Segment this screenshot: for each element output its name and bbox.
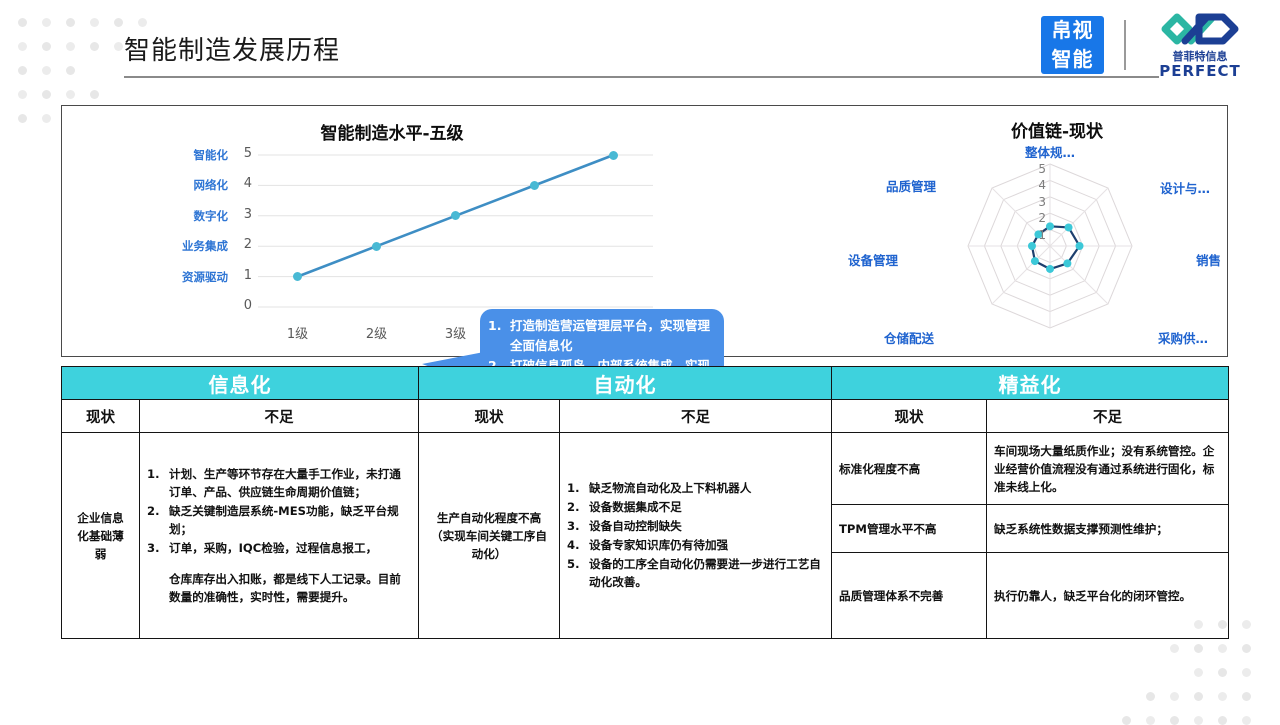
radial-axis-tick: 4 (1030, 178, 1046, 192)
radar-chart-svg (898, 136, 1218, 351)
brand-logo-perfect: 普菲特信息 PERFECT (1145, 12, 1255, 78)
radar-axis-label: 仓储配送 (884, 328, 934, 347)
brand-logo-line1: 帛视 (1041, 16, 1104, 45)
lean-status-cell: 标准化程度不高 (832, 433, 987, 505)
stage-label: 数字化 (172, 208, 228, 224)
decorative-dot (1218, 644, 1227, 653)
title-divider (124, 76, 1159, 78)
info-gap-list: 1. 计划、生产等环节存在大量手工作业，未打通订单、产品、供应链生命周期价值链；… (147, 465, 411, 606)
assessment-table: 信息化 自动化 精益化 现状 不足 现状 不足 现状 不足 企业信息化基础薄弱 … (61, 366, 1229, 639)
decorative-dot (1194, 644, 1203, 653)
callout-item: 1. 打造制造营运管理层平台，实现管理全面信息化 (488, 316, 716, 356)
lean-status-cell: TPM管理水平不高 (832, 505, 987, 553)
charts-card: 智能制造水平-五级 价值链-现状 012345智能化网络化数字化业务集成资源驱动… (61, 105, 1228, 357)
list-item: 3. 订单，采购，IQC检验，过程信息报工， (147, 539, 411, 557)
list-item: 5. 设备的工序全自动化仍需要进一步进行工艺自动化改善。 (567, 555, 824, 591)
list-item-text: 设备的工序全自动化仍需要进一步进行工艺自动化改善。 (589, 555, 824, 591)
radar-data-point (1065, 223, 1073, 231)
auto-status-cell: 生产自动化程度不高（实现车间关键工序自动化） (419, 433, 560, 639)
radial-axis-tick: 5 (1030, 162, 1046, 176)
decorative-dot (1218, 668, 1227, 677)
list-item-text: 设备自动控制缺失 (589, 517, 824, 535)
list-item-number: 3. (567, 517, 589, 535)
brand-name-en: PERFECT (1145, 63, 1255, 79)
sub-header-gap: 不足 (987, 400, 1229, 433)
sub-header-gap: 不足 (560, 400, 832, 433)
decorative-dot (1194, 716, 1203, 725)
page-title: 智能制造发展历程 (124, 30, 340, 67)
list-item-text: 订单，采购，IQC检验，过程信息报工， (169, 539, 411, 557)
decorative-dot (1146, 716, 1155, 725)
decorative-dot (1194, 668, 1203, 677)
radar-data-point (1028, 242, 1036, 250)
decorative-dot (1242, 692, 1251, 701)
y-axis-tick: 4 (232, 176, 252, 191)
stage-label: 网络化 (172, 177, 228, 193)
sub-header-gap: 不足 (140, 400, 419, 433)
list-item: 4. 设备专家知识库仍有待加强 (567, 536, 824, 554)
lean-status-cell: 品质管理体系不完善 (832, 553, 987, 639)
spacer (147, 558, 411, 570)
radial-axis-tick: 3 (1030, 195, 1046, 209)
decorative-dot (18, 114, 27, 123)
decorative-dot (1122, 716, 1131, 725)
list-item-number: 1. (567, 479, 589, 497)
callout-item-text: 打造制造营运管理层平台，实现管理全面信息化 (510, 316, 716, 356)
lean-gap-cell: 缺乏系统性数据支撑预测性维护； (987, 505, 1229, 553)
brand-logo-line2: 智能 (1041, 45, 1104, 74)
decorative-dot (1242, 668, 1251, 677)
info-status-cell: 企业信息化基础薄弱 (62, 433, 140, 639)
sub-header-status: 现状 (62, 400, 140, 433)
callout-item-number: 1. (488, 316, 510, 356)
decorative-dot (1242, 644, 1251, 653)
stage-label: 业务集成 (172, 238, 228, 254)
radar-data-point (1046, 265, 1054, 273)
y-axis-tick: 1 (232, 268, 252, 283)
auto-gap-cell: 1. 缺乏物流自动化及上下料机器人 2. 设备数据集成不足 3. 设备自动控制缺… (560, 433, 832, 639)
list-item: 1. 计划、生产等环节存在大量手工作业，未打通订单、产品、供应链生命周期价值链； (147, 465, 411, 501)
y-axis-tick: 0 (232, 298, 252, 313)
radar-axis-label: 销售 (1196, 250, 1221, 269)
perfect-mark-icon (1161, 12, 1239, 46)
radial-axis-tick: 2 (1030, 211, 1046, 225)
table-sub-header-row: 现状 不足 现状 不足 现状 不足 (62, 400, 1229, 433)
stage-label: 资源驱动 (172, 269, 228, 285)
list-item-number: 1. (147, 465, 169, 501)
sub-header-status: 现状 (419, 400, 560, 433)
radar-data-point (1063, 259, 1071, 267)
radar-axis-label: 设计与… (1160, 178, 1210, 197)
y-axis-tick: 3 (232, 207, 252, 222)
radar-axis-label: 品质管理 (886, 176, 936, 195)
stage-label: 智能化 (172, 147, 228, 163)
list-item: 2. 设备数据集成不足 (567, 498, 824, 516)
x-axis-tick: 3级 (426, 323, 486, 342)
lean-gap-cell: 执行仍靠人，缺乏平台化的闭环管控。 (987, 553, 1229, 639)
decorative-dot (1194, 692, 1203, 701)
list-item-number: 5. (567, 555, 589, 591)
list-item-text: 缺乏物流自动化及上下料机器人 (589, 479, 824, 497)
data-point (530, 181, 539, 190)
list-item-number: 2. (147, 502, 169, 538)
auto-gap-list: 1. 缺乏物流自动化及上下料机器人 2. 设备数据集成不足 3. 设备自动控制缺… (567, 479, 824, 591)
x-axis-tick: 2级 (347, 323, 407, 342)
decorative-dot (1218, 692, 1227, 701)
x-axis-tick: 1级 (268, 323, 328, 342)
y-axis-tick: 5 (232, 146, 252, 161)
list-item-text: 设备专家知识库仍有待加强 (589, 536, 824, 554)
list-item-number: 2. (567, 498, 589, 516)
decorative-dot (1146, 692, 1155, 701)
info-status-text: 企业信息化基础薄弱 (73, 509, 129, 563)
radar-data-point (1031, 257, 1039, 265)
table-row: 企业信息化基础薄弱 1. 计划、生产等环节存在大量手工作业，未打通订单、产品、供… (62, 433, 1229, 505)
group-header-lean: 精益化 (832, 367, 1229, 400)
logo-divider (1124, 20, 1126, 70)
page-header: 智能制造发展历程 帛视 智能 普菲特信息 PERFECT (0, 0, 1280, 92)
list-item: 2. 缺乏关键制造层系统-MES功能，缺乏平台规划； (147, 502, 411, 538)
brand-logo-boshi: 帛视 智能 (1041, 16, 1104, 74)
info-gap-note: 仓库库存出入扣账，都是线下人工记录。目前数量的准确性，实时性，需要提升。 (147, 570, 411, 606)
list-item: 3. 设备自动控制缺失 (567, 517, 824, 535)
data-point (372, 242, 381, 251)
list-item-number: 3. (147, 539, 169, 557)
radial-axis-tick: 1 (1030, 228, 1046, 242)
list-item-number: 4. (567, 536, 589, 554)
lean-gap-cell: 车间现场大量纸质作业；没有系统管控。企业经营价值流程没有通过系统进行固化，标准未… (987, 433, 1229, 505)
list-item-text: 计划、生产等环节存在大量手工作业，未打通订单、产品、供应链生命周期价值链； (169, 465, 411, 501)
y-axis-tick: 2 (232, 237, 252, 252)
value-chain-radar-chart: 54321整体规…设计与…销售采购供…生产执针划与…仓储配送设备管理品质管理 (898, 136, 1218, 351)
group-header-info: 信息化 (62, 367, 419, 400)
radar-axis-label: 设备管理 (848, 250, 898, 269)
list-item: 1. 缺乏物流自动化及上下料机器人 (567, 479, 824, 497)
decorative-dot (1170, 644, 1179, 653)
radar-data-point (1076, 242, 1084, 250)
radar-data-point (1046, 222, 1054, 230)
decorative-dot (1170, 692, 1179, 701)
data-point (609, 151, 618, 160)
info-gap-cell: 1. 计划、生产等环节存在大量手工作业，未打通订单、产品、供应链生命周期价值链；… (140, 433, 419, 639)
decorative-dot (1170, 716, 1179, 725)
decorative-dot (1242, 620, 1251, 629)
decorative-dot (1218, 716, 1227, 725)
table-group-header-row: 信息化 自动化 精益化 (62, 367, 1229, 400)
sub-header-status: 现状 (832, 400, 987, 433)
list-item-text: 缺乏关键制造层系统-MES功能，缺乏平台规划； (169, 502, 411, 538)
list-item-text: 设备数据集成不足 (589, 498, 824, 516)
group-header-auto: 自动化 (419, 367, 832, 400)
radar-axis-label: 整体规… (1025, 142, 1075, 161)
decorative-dot (42, 114, 51, 123)
radar-axis-label: 采购供… (1158, 328, 1208, 347)
decorative-dot (1242, 716, 1251, 725)
